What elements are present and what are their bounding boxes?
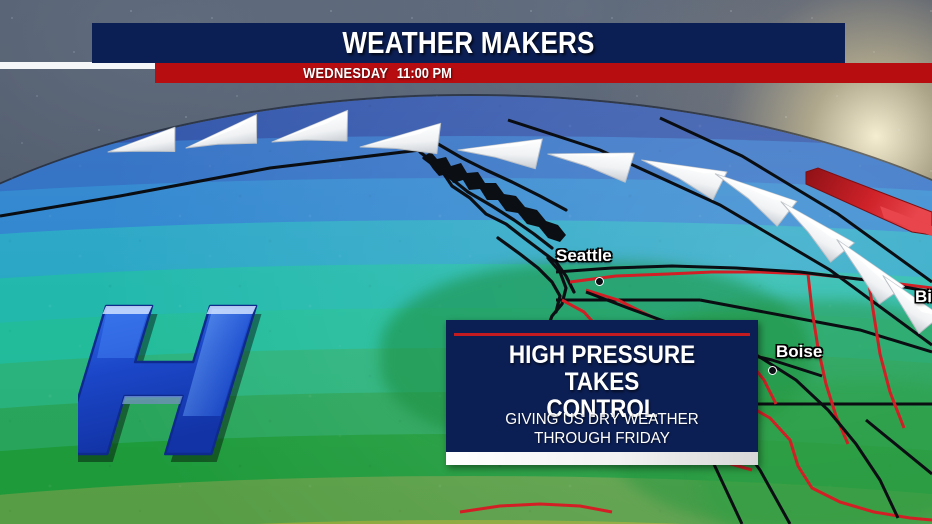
broadcast-title: WEATHER MAKERS (152, 23, 785, 63)
jet-arrow (457, 136, 542, 169)
callout-accent-rule (454, 333, 750, 336)
jet-arrow (546, 144, 635, 183)
subtitle-banner: WEDNESDAY 11:00 PM (155, 63, 932, 83)
banner-white-rule (0, 62, 163, 69)
jet-arrow (637, 154, 727, 201)
weather-broadcast-graphic: Seattle Boise Bi WEATHER MAKERS WEDNESDA… (0, 0, 932, 524)
callout-subtext-line2: THROUGH FRIDAY (463, 429, 740, 448)
title-banner: WEATHER MAKERS (92, 23, 845, 63)
callout-subtext: GIVING US DRY WEATHER THROUGH FRIDAY (463, 410, 740, 448)
city-label-seattle: Seattle (556, 246, 612, 266)
callout-footer-strip (446, 452, 758, 465)
broadcast-day: WEDNESDAY (303, 65, 388, 82)
jet-arrow (106, 127, 179, 162)
callout-headline-line1: HIGH PRESSURE TAKES (471, 342, 734, 396)
city-marker-boise (768, 366, 777, 375)
jet-arrow (182, 115, 262, 158)
city-label-boise: Boise (776, 342, 822, 362)
high-pressure-symbol (78, 296, 293, 464)
callout-subtext-line1: GIVING US DRY WEATHER (463, 410, 740, 429)
forecast-callout-box: HIGH PRESSURE TAKES CONTROL GIVING US DR… (446, 320, 758, 465)
city-label-billings: Bi (915, 287, 932, 307)
jet-arrow (359, 123, 443, 159)
broadcast-time: 11:00 PM (397, 65, 452, 82)
city-marker-seattle (595, 277, 604, 286)
broadcast-timestamp: WEDNESDAY 11:00 PM (186, 63, 569, 83)
jet-arrow (269, 110, 353, 153)
